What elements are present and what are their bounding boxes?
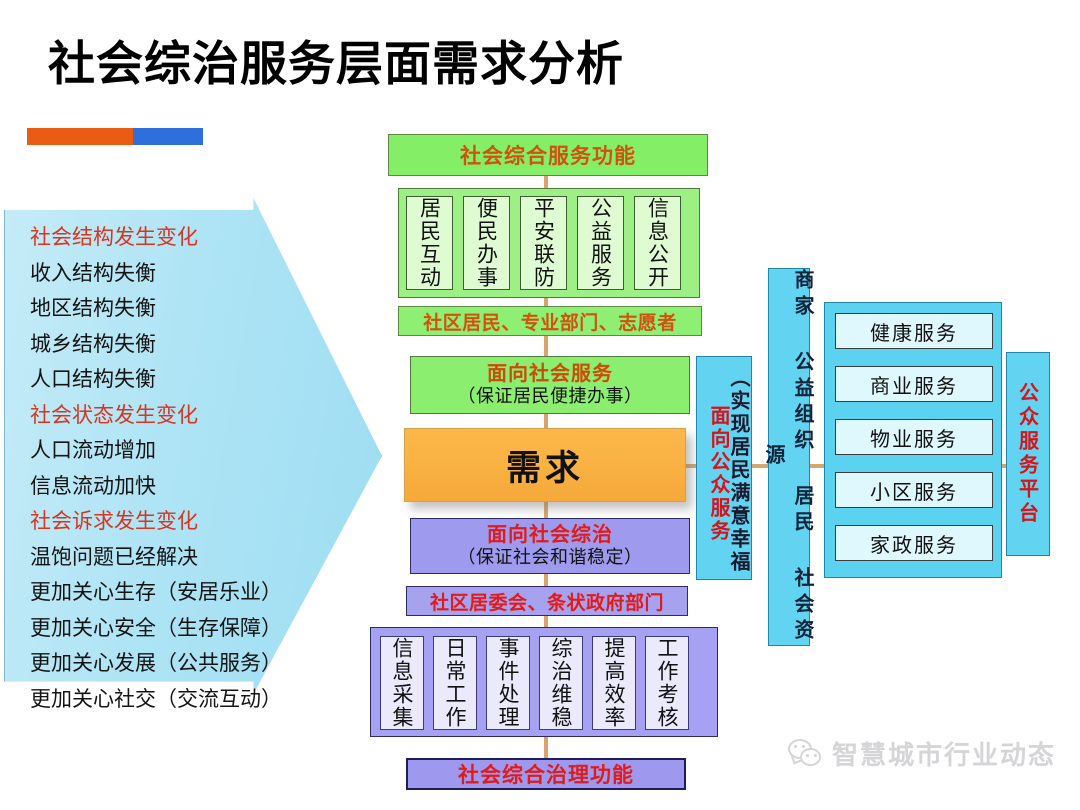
watermark: 智慧城市行业动态 (788, 735, 1056, 772)
connector-v-5 (544, 500, 548, 520)
governance-tile: 工作考核 (645, 636, 689, 730)
public-facing-box: 面向公众服务 （实现居民满意幸福 (696, 356, 752, 580)
public-platform-box: 公众服务平台 (1006, 352, 1050, 556)
driver-row: 城乡结构失衡 (30, 327, 330, 363)
governance-actors-box: 社区居委会、条状政府部门 (406, 586, 688, 616)
connector-v-8 (544, 736, 548, 760)
public-platform-text: 公众服务平台 (1014, 382, 1043, 526)
public-facing-sub: （实现居民满意幸福 (725, 367, 754, 574)
driver-row: 人口流动增加 (30, 433, 330, 469)
public-service-item[interactable]: 小区服务 (835, 472, 993, 508)
driver-row: 地区结构失衡 (30, 291, 330, 327)
title-accent-bar (27, 128, 203, 145)
service-facing-box: 面向社会服务 （保证居民便捷办事） (410, 356, 690, 414)
service-tile: 便民办事 (463, 196, 510, 290)
resources-text: 商家 公益组织 居民 社会资源 (760, 269, 818, 645)
governance-facing-sub: （保证社会和谐稳定） (458, 547, 643, 570)
driver-row: 更加关心发展（公共服务） (30, 646, 330, 682)
service-tile: 信息公开 (634, 196, 681, 290)
accent-segment-blue (133, 128, 203, 145)
public-service-item[interactable]: 健康服务 (835, 313, 993, 349)
service-function-header: 社会综合服务功能 (388, 134, 708, 176)
governance-tile: 信息采集 (380, 636, 424, 730)
driver-row: 社会状态发生变化 (30, 398, 330, 434)
driver-row: 社会结构发生变化 (30, 220, 330, 256)
governance-tile: 提高效率 (592, 636, 636, 730)
driver-row: 社会诉求发生变化 (30, 504, 330, 540)
service-facing-sub: （保证居民便捷办事） (458, 386, 643, 409)
slide-canvas: 社会综治服务层面需求分析 社会结构发生变化收入结构失衡地区结构失衡城乡结构失衡人… (0, 0, 1080, 810)
accent-segment-orange (27, 128, 133, 145)
governance-tile: 日常工作 (433, 636, 477, 730)
service-facing-title: 面向社会服务 (487, 361, 613, 386)
page-title: 社会综治服务层面需求分析 (48, 40, 624, 89)
governance-tile: 综治维稳 (539, 636, 583, 730)
public-service-item[interactable]: 物业服务 (835, 419, 993, 455)
public-service-item[interactable]: 家政服务 (835, 525, 993, 561)
governance-facing-title: 面向社会综治 (487, 522, 613, 547)
wechat-icon (788, 739, 822, 769)
driver-row: 收入结构失衡 (30, 256, 330, 292)
public-service-item[interactable]: 商业服务 (835, 366, 993, 402)
governance-facing-box: 面向社会综治 （保证社会和谐稳定） (410, 518, 690, 574)
service-tile: 平安联防 (520, 196, 567, 290)
watermark-text: 智慧城市行业动态 (832, 735, 1056, 772)
driver-row: 更加关心安全（生存保障） (30, 611, 330, 647)
service-tile: 居民互动 (406, 196, 453, 290)
driver-row: 更加关心生存（安居乐业） (30, 575, 330, 611)
service-tile: 公益服务 (577, 196, 624, 290)
driver-row: 更加关心社交（交流互动） (30, 682, 330, 718)
connector-v-3 (544, 334, 548, 356)
driver-row: 信息流动加快 (30, 469, 330, 505)
public-services-panel: 健康服务商业服务物业服务小区服务家政服务 (824, 302, 1002, 578)
governance-function-footer: 社会综合治理功能 (406, 758, 686, 790)
driver-row: 温饱问题已经解决 (30, 540, 330, 576)
governance-tile: 事件处理 (486, 636, 530, 730)
resources-box: 商家 公益组织 居民 社会资源 (768, 268, 810, 646)
service-actors-box: 社区居民、专业部门、志愿者 (398, 306, 702, 336)
core-demand-box: 需求 (404, 428, 686, 502)
drivers-arrow-panel: 社会结构发生变化收入结构失衡地区结构失衡城乡结构失衡人口结构失衡社会状态发生变化… (4, 198, 382, 694)
drivers-list: 社会结构发生变化收入结构失衡地区结构失衡城乡结构失衡人口结构失衡社会状态发生变化… (30, 220, 330, 717)
driver-row: 人口结构失衡 (30, 362, 330, 398)
